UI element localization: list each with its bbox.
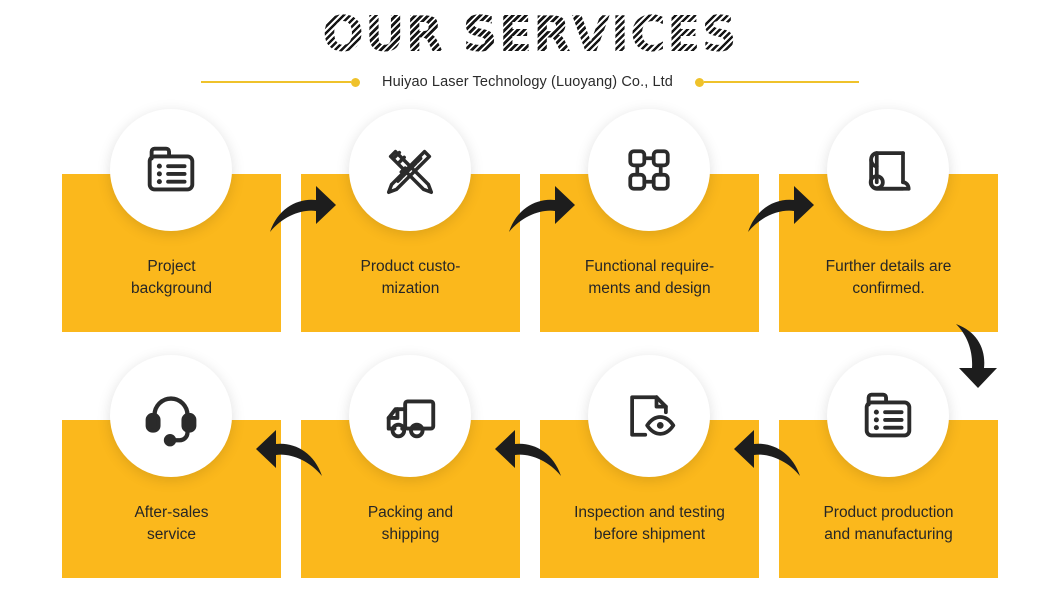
- divider-line-left: [201, 81, 351, 83]
- arrow-left-icon: [254, 422, 324, 484]
- pencil-ruler-icon: [379, 139, 441, 201]
- process-step-card[interactable]: Project background: [62, 174, 281, 332]
- arrow-left-icon: [493, 422, 563, 484]
- process-step-card[interactable]: Packing and shipping: [301, 420, 520, 578]
- selection-frame-icon: [619, 140, 679, 200]
- arrow-left-icon: [732, 422, 802, 484]
- step-icon-badge: [827, 355, 949, 477]
- divider-line-right: [704, 81, 859, 83]
- blueprint-scroll-icon: [858, 140, 918, 200]
- subtitle-row: Huiyao Laser Technology (Luoyang) Co., L…: [0, 70, 1060, 94]
- header: OUR SERVICES Huiyao Laser Technology (Lu…: [0, 0, 1060, 100]
- process-step-card[interactable]: Product production and manufacturing: [779, 420, 998, 578]
- step-label: Product custo- mization: [301, 256, 520, 300]
- delivery-truck-icon: [379, 385, 441, 447]
- company-subtitle: Huiyao Laser Technology (Luoyang) Co., L…: [360, 74, 695, 90]
- headset-icon: [140, 385, 202, 447]
- step-label: Project background: [62, 256, 281, 300]
- divider-dot-right: [695, 78, 704, 87]
- step-icon-badge: [588, 355, 710, 477]
- step-icon-badge: [827, 109, 949, 231]
- document-eye-icon: [619, 386, 679, 446]
- step-label: Product production and manufacturing: [779, 502, 998, 546]
- page-title: OUR SERVICES: [0, 6, 1060, 64]
- arrow-right-icon: [746, 178, 816, 240]
- step-label: Packing and shipping: [301, 502, 520, 546]
- step-label: After-sales service: [62, 502, 281, 546]
- process-step-card[interactable]: After-sales service: [62, 420, 281, 578]
- step-label: Functional require- ments and design: [540, 256, 759, 300]
- process-step-card[interactable]: Inspection and testing before shipment: [540, 420, 759, 578]
- divider-dot-left: [351, 78, 360, 87]
- arrow-right-icon: [507, 178, 577, 240]
- step-icon-badge: [349, 109, 471, 231]
- step-icon-badge: [349, 355, 471, 477]
- folder-list-icon: [857, 385, 919, 447]
- arrow-down-icon: [942, 322, 1006, 388]
- step-label: Further details are confirmed.: [779, 256, 998, 300]
- folder-list-icon: [140, 139, 202, 201]
- step-label: Inspection and testing before shipment: [540, 502, 759, 546]
- step-icon-badge: [588, 109, 710, 231]
- arrow-right-icon: [268, 178, 338, 240]
- step-icon-badge: [110, 109, 232, 231]
- step-icon-badge: [110, 355, 232, 477]
